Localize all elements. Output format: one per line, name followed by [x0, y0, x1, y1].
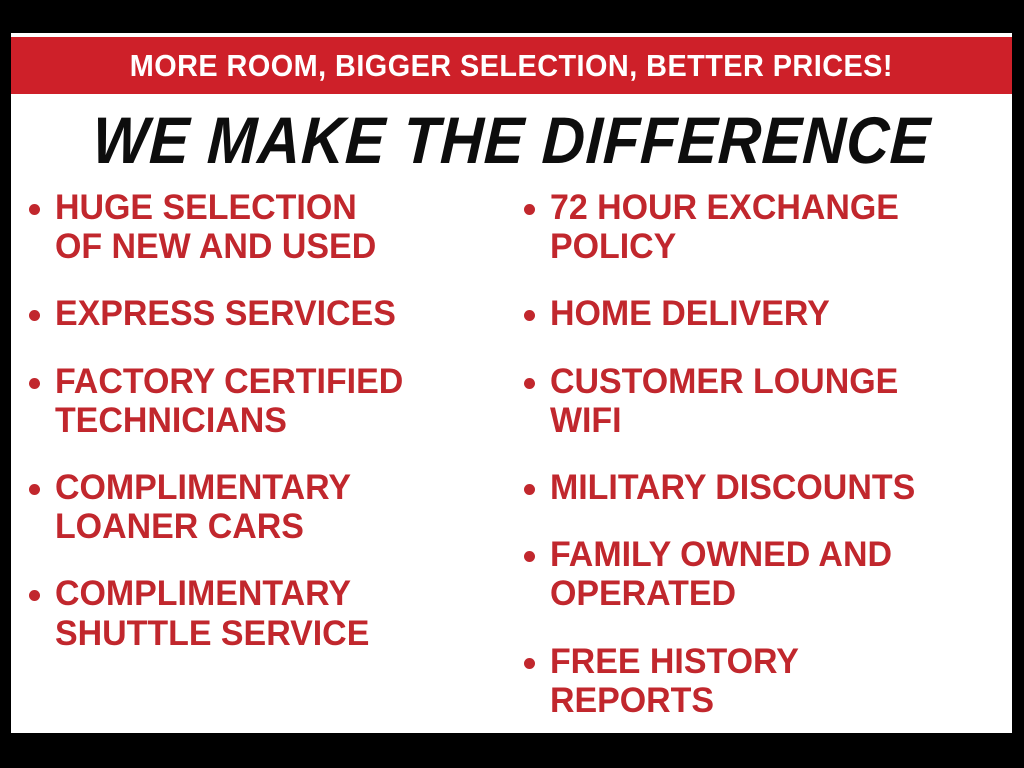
list-item-label: COMPLIMENTARY LOANER CARS — [53, 468, 351, 546]
list-item: FAMILY OWNED AND OPERATED — [524, 535, 1012, 613]
page-title: WE MAKE THE DIFFERENCE — [91, 107, 932, 173]
list-item: 72 HOUR EXCHANGE POLICY — [524, 188, 1012, 266]
list-item-label: COMPLIMENTARY SHUTTLE SERVICE — [53, 574, 369, 652]
bullet-dot-icon — [29, 378, 40, 389]
poster-frame: MORE ROOM, BIGGER SELECTION, BETTER PRIC… — [0, 0, 1024, 768]
list-item-label: MILITARY DISCOUNTS — [548, 468, 915, 507]
headline: WE MAKE THE DIFFERENCE — [11, 99, 1012, 181]
list-item-label: FREE HISTORY REPORTS — [548, 642, 799, 720]
bullet-dot-icon — [29, 204, 40, 215]
list-item-label: 72 HOUR EXCHANGE POLICY — [548, 188, 899, 266]
promo-banner-text: MORE ROOM, BIGGER SELECTION, BETTER PRIC… — [130, 50, 893, 81]
list-item: FREE HISTORY REPORTS — [524, 642, 1012, 720]
list-item-label: CUSTOMER LOUNGE WIFI — [548, 362, 898, 440]
list-item: MILITARY DISCOUNTS — [524, 468, 1012, 507]
list-item-label: HOME DELIVERY — [548, 294, 830, 333]
list-item: HOME DELIVERY — [524, 294, 1012, 333]
bullet-dot-icon — [524, 378, 535, 389]
list-item: EXPRESS SERVICES — [29, 294, 516, 333]
list-item-label: HUGE SELECTION OF NEW AND USED — [53, 188, 376, 266]
bullet-dot-icon — [29, 310, 40, 321]
bullet-dot-icon — [29, 484, 40, 495]
list-item-label: FACTORY CERTIFIED TECHNICIANS — [53, 362, 403, 440]
poster-card: MORE ROOM, BIGGER SELECTION, BETTER PRIC… — [11, 33, 1012, 733]
bullet-dot-icon — [524, 551, 535, 562]
list-item: CUSTOMER LOUNGE WIFI — [524, 362, 1012, 440]
list-item-label: EXPRESS SERVICES — [53, 294, 396, 333]
list-item-label: FAMILY OWNED AND OPERATED — [548, 535, 892, 613]
list-item: HUGE SELECTION OF NEW AND USED — [29, 188, 516, 266]
bullet-dot-icon — [524, 204, 535, 215]
list-item: FACTORY CERTIFIED TECHNICIANS — [29, 362, 516, 440]
list-item: COMPLIMENTARY LOANER CARS — [29, 468, 516, 546]
bullet-dot-icon — [524, 310, 535, 321]
feature-column-left: HUGE SELECTION OF NEW AND USED EXPRESS S… — [11, 188, 516, 681]
feature-column-right: 72 HOUR EXCHANGE POLICY HOME DELIVERY CU… — [516, 188, 1012, 733]
bullet-dot-icon — [524, 484, 535, 495]
promo-banner: MORE ROOM, BIGGER SELECTION, BETTER PRIC… — [11, 37, 1012, 94]
feature-columns: HUGE SELECTION OF NEW AND USED EXPRESS S… — [11, 188, 1012, 733]
bullet-dot-icon — [29, 590, 40, 601]
list-item: COMPLIMENTARY SHUTTLE SERVICE — [29, 574, 516, 652]
bullet-dot-icon — [524, 658, 535, 669]
